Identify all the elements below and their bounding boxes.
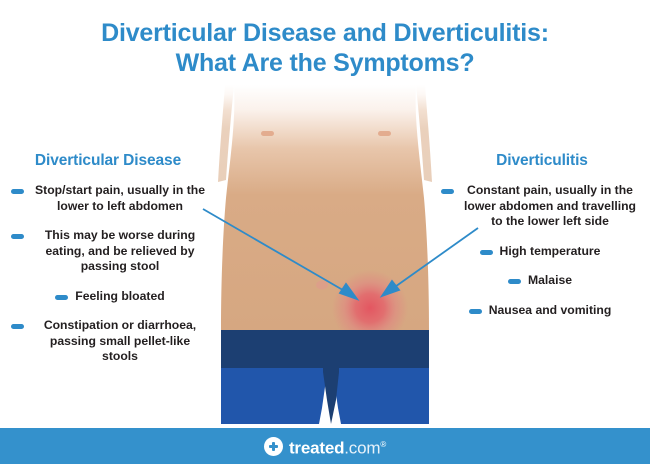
list-item: Constipation or diarrhoea, passing small… xyxy=(2,318,218,365)
brand-logo[interactable]: treated.com® xyxy=(264,435,386,458)
bullet-dash-icon xyxy=(55,295,68,300)
title-line-2: What Are the Symptoms? xyxy=(0,48,650,78)
list-item: Feeling bloated xyxy=(2,289,218,305)
symptom-text: Stop/start pain, usually in the lower to… xyxy=(31,183,209,214)
infographic-canvas: Diverticular Disease and Diverticulitis:… xyxy=(0,0,650,464)
symptom-text: High temperature xyxy=(500,244,601,260)
bullet-dash-icon xyxy=(11,189,24,194)
column-heading-diverticulitis: Diverticulitis xyxy=(434,152,650,170)
medical-cross-circle-icon xyxy=(264,437,283,456)
list-item: Malaise xyxy=(432,273,648,289)
arrow-right-head xyxy=(382,281,399,296)
symptom-text: Constipation or diarrhoea, passing small… xyxy=(31,318,209,365)
list-item: High temperature xyxy=(432,244,648,260)
navel xyxy=(316,281,328,290)
brand-name-main: treated xyxy=(289,438,344,457)
registered-trademark-mark: ® xyxy=(380,440,386,449)
symptom-list-diverticulitis: Constant pain, usually in the lower abdo… xyxy=(432,183,648,332)
list-item: This may be worse during eating, and be … xyxy=(2,228,218,275)
shorts xyxy=(221,330,429,424)
brand-name: treated.com® xyxy=(289,435,386,458)
symptom-text: This may be worse during eating, and be … xyxy=(31,228,209,275)
title-line-1: Diverticular Disease and Diverticulitis: xyxy=(101,19,549,47)
list-item: Stop/start pain, usually in the lower to… xyxy=(2,183,218,214)
symptom-text: Nausea and vomiting xyxy=(489,303,612,319)
bullet-dash-icon xyxy=(508,279,521,284)
bullet-dash-icon xyxy=(441,189,454,194)
page-title: Diverticular Disease and Diverticulitis:… xyxy=(0,18,650,78)
torso-shape xyxy=(218,85,432,330)
brand-name-tld: .com xyxy=(344,438,380,457)
symptom-text: Malaise xyxy=(528,273,572,289)
symptom-text: Feeling bloated xyxy=(75,289,164,305)
nipple-marks xyxy=(261,131,391,136)
bullet-dash-icon xyxy=(11,324,24,329)
footer-bar: treated.com® xyxy=(0,428,650,464)
bullet-dash-icon xyxy=(11,234,24,239)
bullet-dash-icon xyxy=(469,309,482,314)
bullet-dash-icon xyxy=(480,250,493,255)
list-item: Nausea and vomiting xyxy=(432,303,648,319)
list-item: Constant pain, usually in the lower abdo… xyxy=(432,183,648,230)
column-heading-diverticular-disease: Diverticular Disease xyxy=(0,152,216,170)
arrow-left-head xyxy=(340,284,357,299)
symptom-text: Constant pain, usually in the lower abdo… xyxy=(461,183,639,230)
arrow-left-line xyxy=(203,209,348,293)
pain-spot xyxy=(332,270,408,346)
symptom-list-diverticular-disease: Stop/start pain, usually in the lower to… xyxy=(2,183,218,379)
